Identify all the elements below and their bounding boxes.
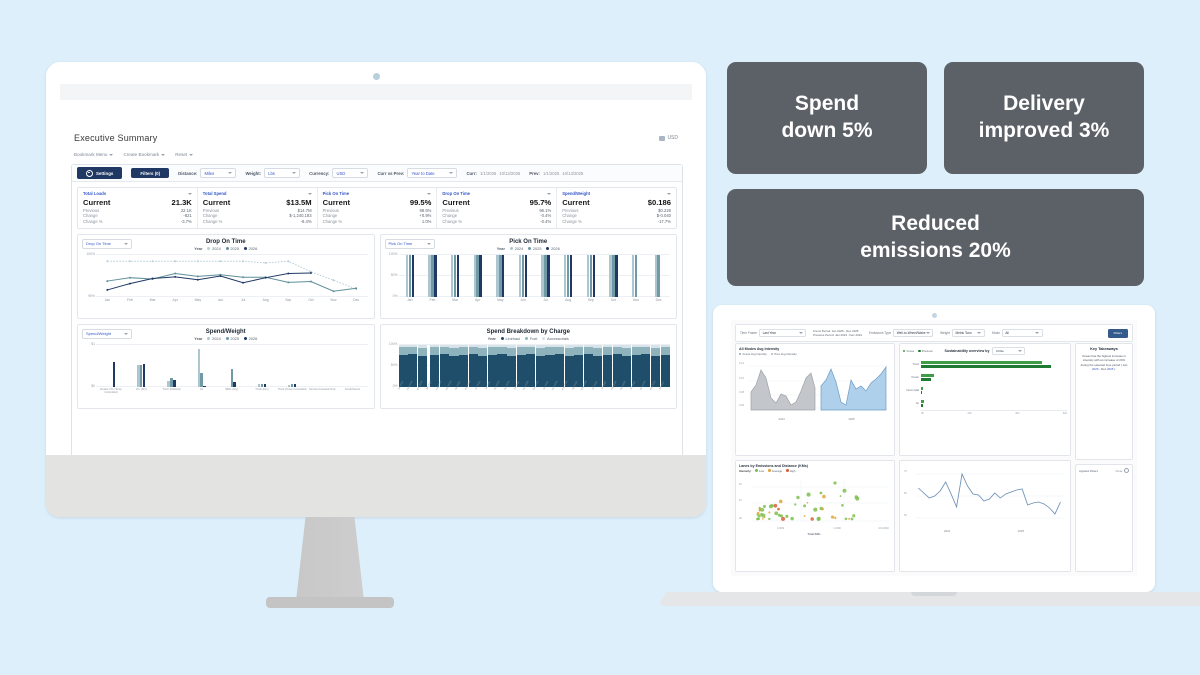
- clear-filters-button[interactable]: Clear: [1115, 468, 1129, 473]
- data-point: [106, 289, 108, 291]
- scatter-point: [790, 516, 793, 519]
- bar-segment-fuel: [517, 347, 526, 355]
- legend-text: 2026: [249, 246, 258, 251]
- legend-item[interactable]: Previous: [918, 349, 932, 353]
- chart-grid: Drop On Time Drop On Time Year2024202520…: [77, 234, 677, 409]
- middle-column: Sustainability overview by CO2e FocusPre…: [899, 343, 1071, 572]
- pick-on-time-select-value: Pick On Time: [389, 241, 413, 246]
- x-tick: Apr: [164, 298, 187, 302]
- bar-segment-fuel: [651, 348, 660, 356]
- legend-swatch: [207, 247, 210, 250]
- x-tick: 0.0KM: [777, 527, 784, 530]
- bar-group: [277, 343, 307, 387]
- x-tick: Sep: [277, 298, 300, 302]
- chevron-down-icon: [292, 172, 296, 174]
- kpi-change-value: $-1,240,193: [230, 213, 311, 218]
- legend-item[interactable]: Focus Avg Intensity: [739, 352, 767, 356]
- scatter-point: [821, 507, 824, 510]
- x-tick: May: [187, 298, 210, 302]
- data-point: [265, 276, 267, 278]
- bar-focus: [921, 361, 1042, 364]
- x-tick: IMDL (Dry): [217, 388, 247, 394]
- panel-title: Sustainability overview by: [945, 349, 990, 353]
- sustainability-row: Intermodal: [903, 384, 1067, 397]
- y-tick: 60: [904, 492, 907, 495]
- time-frame-filter[interactable]: Time Frame Last Year: [740, 329, 806, 337]
- x-tick: Feb: [421, 298, 444, 302]
- kpi-current-value: 21.3K: [110, 198, 191, 207]
- metric-select[interactable]: CO2e: [992, 347, 1025, 355]
- bookmark-bar: Bookmark Menu Create Bookmark Reset: [74, 152, 193, 157]
- bar-focus: [921, 374, 934, 377]
- kpi-change-pct-value: -0.4%: [470, 219, 551, 224]
- kpi-row-label: Previous: [323, 208, 350, 213]
- chart-plot: 100%95% JanFebMarAprMayJunJulAugSepOctNo…: [82, 253, 370, 305]
- avg-intensity-area-chart: [739, 358, 891, 420]
- legend-swatch: [244, 247, 247, 250]
- data-point: [242, 260, 244, 262]
- x-tick: Feb: [119, 298, 142, 302]
- kpi-row-label: Current: [323, 198, 350, 207]
- legend-item[interactable]: 2024: [207, 336, 220, 341]
- kpi-change-value: -0.4%: [470, 213, 551, 218]
- weight-select[interactable]: Lbs: [264, 168, 300, 178]
- chart-card-spend-weight: Spend/Weight Spend/Weight Year2024202520…: [77, 324, 375, 409]
- bar-series-group: [399, 253, 671, 297]
- y-tick: 0.10: [739, 377, 744, 380]
- data-point: [152, 277, 154, 279]
- legend-swatch: [501, 337, 504, 340]
- bar: [434, 255, 436, 297]
- scatter-point: [851, 517, 854, 520]
- curr-date-label: Curr:: [466, 171, 477, 176]
- kpi-change-pct-value: 1.0%: [350, 219, 431, 224]
- emissions-type-value: Well-to-Wheel/Wake: [897, 331, 926, 335]
- legend-item[interactable]: Linehaul: [501, 336, 520, 341]
- period-summary: Focus Period: Jan 2025 - Dec 2025 Previo…: [813, 329, 862, 338]
- takeaway-text-pre: Ocean has the highest increase in intens…: [1081, 354, 1128, 367]
- kpi-current-value: 95.7%: [470, 198, 551, 207]
- data-point: [197, 279, 199, 281]
- y-tick: 20: [739, 483, 742, 486]
- panel-applied-filters: Applied Filters Clear: [1075, 464, 1133, 572]
- bar-segment-fuel: [555, 347, 564, 354]
- currency-badge: USD: [659, 135, 678, 141]
- legend-item[interactable]: Fuel: [525, 336, 537, 341]
- spend-weight-select[interactable]: Spend/Weight: [82, 329, 132, 339]
- x-axis-title: Total KMs: [807, 532, 820, 536]
- chart-card-drop-on-time: Drop On Time Drop On Time Year2024202520…: [77, 234, 375, 319]
- bar-segment-fuel: [526, 347, 535, 354]
- bar-segment-fuel: [545, 347, 554, 355]
- data-point: [152, 260, 154, 262]
- legend-label: Year: [497, 246, 505, 251]
- callout-line-2: improved 3%: [979, 119, 1110, 142]
- scatter-point: [796, 495, 799, 498]
- weight-label: Weight: [940, 331, 950, 335]
- x-tick: 200: [968, 412, 972, 415]
- curr-vs-prev-select[interactable]: Year to Date: [407, 168, 457, 178]
- legend-item[interactable]: 2026: [244, 336, 257, 341]
- legend-item[interactable]: 2026: [546, 246, 559, 251]
- legend-text: 2025: [230, 336, 239, 341]
- y-tick: 50%: [391, 273, 398, 277]
- scatter-point: [806, 501, 808, 503]
- monitor-stand-base: [266, 597, 394, 608]
- bar-segment-fuel: [641, 347, 650, 354]
- legend-swatch: [244, 337, 247, 340]
- y-tick: 0K: [739, 517, 742, 520]
- y-tick: 70: [904, 470, 907, 473]
- bar-pair: [921, 400, 1067, 408]
- kpi-card: Drop On TimeCurrent95.7%Previous96.1%Cha…: [437, 188, 557, 228]
- currency-badge-label: USD: [667, 135, 678, 141]
- stacked-bar: [399, 343, 408, 387]
- panel-key-takeaways: Key Takeaways Ocean has the highest incr…: [1075, 343, 1133, 460]
- mode-filter[interactable]: Mode All: [992, 329, 1043, 337]
- chevron-down-icon: [161, 154, 165, 156]
- legend-text: 2025: [230, 246, 239, 251]
- legend-text: 2025: [533, 246, 542, 251]
- scatter-point: [842, 488, 846, 492]
- bar-previous: [921, 365, 1051, 368]
- scatter-point: [763, 504, 766, 507]
- data-point: [242, 276, 244, 278]
- panel-legend: FocusPrevious: [903, 349, 933, 353]
- kpi-values: Current95.7%Previous96.1%Change-0.4%Chan…: [442, 198, 551, 224]
- kpi-current-value: $0.186: [590, 198, 671, 207]
- kpi-row-label: Change %: [83, 219, 110, 224]
- bar-pair: [921, 374, 1067, 382]
- emissions-type-select[interactable]: Well-to-Wheel/Wake: [893, 329, 933, 337]
- lanes-scatter-chart: [739, 475, 891, 535]
- legend-swatch: [918, 350, 920, 352]
- data-point: [129, 282, 131, 284]
- scatter-point: [848, 517, 850, 519]
- period-label: 2025: [1018, 529, 1024, 533]
- chart-title: Spend Breakdown by Charge: [385, 329, 673, 335]
- bar: [294, 384, 296, 387]
- kpi-row-label: Change %: [203, 219, 230, 224]
- legend-text: Previous: [922, 349, 933, 353]
- kpi-header[interactable]: Pick On Time: [323, 191, 432, 196]
- kpi-row-label: Change %: [442, 219, 469, 224]
- kpi-header[interactable]: Spend/Weight: [562, 191, 671, 196]
- callout-card-delivery: Delivery improved 3%: [944, 62, 1144, 174]
- data-point: [219, 260, 221, 262]
- x-tick: 400: [1015, 412, 1019, 415]
- bar-group: [534, 253, 557, 297]
- y-tick: 0.12: [739, 362, 744, 365]
- y-tick: $0: [91, 384, 95, 388]
- scatter-point: [774, 503, 778, 507]
- callout-card-emissions: Reduced emissions 20%: [727, 189, 1144, 286]
- kpi-title: Pick On Time: [323, 191, 349, 196]
- scatter-point: [804, 514, 806, 516]
- current-date-range[interactable]: Curr: 1/1/2026 10/13/2026: [466, 171, 520, 176]
- kpi-change-value: $-0.040: [590, 213, 671, 218]
- kpi-card: Pick On TimeCurrent99.5%Previous98.5%Cha…: [318, 188, 438, 228]
- sustainability-bar-chart: TruckOceanIntermodalAir0K200400600: [903, 358, 1067, 420]
- prev-date-label: Prev:: [529, 171, 540, 176]
- reset-button[interactable]: Reset: [175, 152, 193, 157]
- emissions-type-label: Emissions Type: [869, 331, 891, 335]
- kpi-row-label: Change %: [323, 219, 350, 224]
- scatter-point: [834, 516, 836, 518]
- kpi-previous-value: $14.7M: [230, 208, 311, 213]
- x-tick: Truck (Flatbed): [156, 388, 186, 394]
- kpi-previous-value: 22.1K: [110, 208, 191, 213]
- legend-text: 2024: [515, 246, 524, 251]
- kpi-header[interactable]: Total Spend: [203, 191, 312, 196]
- monitor-stand-neck: [296, 517, 364, 601]
- x-tick: Jan: [399, 298, 422, 302]
- category-label: Air: [903, 402, 919, 405]
- kpi-row: Total LoadsCurrent21.3KPrevious22.1KChan…: [77, 187, 677, 229]
- bar-segment-fuel: [418, 348, 427, 356]
- y-axis: 100%50%0%: [385, 343, 399, 387]
- legend-text: Focus: [907, 349, 915, 353]
- legend-text: 2026: [551, 246, 560, 251]
- y-tick: 0.08: [739, 391, 744, 394]
- bar: [615, 255, 617, 297]
- callout-card-spend: Spend down 5%: [727, 62, 927, 174]
- data-point: [265, 262, 267, 264]
- kpi-change-value: -821: [110, 213, 191, 218]
- legend-item[interactable]: Low: [755, 469, 764, 473]
- metric-value: CO2e: [996, 349, 1004, 353]
- kpi-header[interactable]: Drop On Time: [442, 191, 551, 196]
- panel-legend: Intensity: LowAverageHigh: [739, 469, 891, 473]
- curr-vs-prev-label: Curr vs Prev:: [377, 171, 404, 176]
- spend-weight-select-value: Spend/Weight: [86, 331, 111, 336]
- kpi-row-label: Change: [203, 213, 230, 218]
- period-label: 2024: [944, 529, 950, 533]
- kpi-row-label: Previous: [83, 208, 110, 213]
- callout-line-2: down 5%: [781, 119, 872, 142]
- y-tick: 50%: [391, 363, 398, 367]
- scatter-point: [768, 517, 770, 519]
- drop-on-time-select-value: Drop On Time: [86, 241, 111, 246]
- panel-avg-intensity: All Modes Avg Intensity Focus Avg Intens…: [735, 343, 895, 456]
- panel-sustainability-overview: Sustainability overview by CO2e FocusPre…: [899, 343, 1071, 456]
- executive-summary-dashboard: Executive Summary USD Bookmark Menu Crea…: [60, 84, 692, 474]
- scatter-point: [779, 499, 783, 503]
- bar-group: [217, 343, 247, 387]
- y-tick: 100%: [86, 252, 95, 256]
- chart-plot: $1$0 Reefer LTL (Temp Controlled)LTL (Dr…: [82, 343, 370, 395]
- legend-item[interactable]: 2025: [528, 246, 541, 251]
- legend-item[interactable]: 2025: [226, 246, 239, 251]
- legend-text: Fuel: [530, 336, 538, 341]
- category-label: Truck: [903, 363, 919, 366]
- bar-segment-fuel: [584, 347, 593, 354]
- bar-segment-fuel: [536, 348, 545, 356]
- y-tick: 50: [904, 514, 907, 517]
- kpi-change-pct-value: -3.7%: [110, 219, 191, 224]
- x-tick: Oct: [300, 298, 323, 302]
- kpi-header[interactable]: Total Loads: [83, 191, 192, 196]
- distance-filter[interactable]: Distance: Miles: [178, 168, 236, 178]
- mode-select[interactable]: All: [1002, 329, 1043, 337]
- prev-date-from[interactable]: 1/1/2025: [543, 171, 559, 176]
- legend-swatch: [542, 337, 545, 340]
- legend-label: Year: [194, 336, 202, 341]
- filters-button[interactable]: Filters: [1108, 329, 1128, 338]
- emissions-type-filter[interactable]: Emissions Type Well-to-Wheel/Wake: [869, 329, 933, 337]
- distance-select[interactable]: Miles: [200, 168, 236, 178]
- chevron-down-icon: [188, 193, 192, 195]
- scatter-point: [855, 495, 859, 499]
- weight-select[interactable]: Metric Tons: [952, 329, 985, 337]
- bar-group: [557, 253, 580, 297]
- drop-on-time-select[interactable]: Drop On Time: [82, 239, 132, 249]
- line-series: [107, 273, 356, 291]
- bar-focus: [921, 400, 924, 403]
- bar-previous: [921, 404, 923, 407]
- data-point: [287, 260, 289, 262]
- create-bookmark-button[interactable]: Create Bookmark: [123, 152, 165, 157]
- scatter-point: [774, 511, 778, 515]
- left-column: All Modes Avg Intensity Focus Avg Intens…: [735, 343, 895, 572]
- right-column: Key Takeaways Ocean has the highest incr…: [1075, 343, 1133, 572]
- bar: [525, 255, 527, 297]
- chevron-down-icon: [977, 332, 981, 334]
- x-tick: Nov: [625, 298, 648, 302]
- kpi-change-pct-value: -17.7%: [590, 219, 671, 224]
- bar-group: [156, 343, 186, 387]
- scatter-point: [807, 492, 811, 496]
- legend-item[interactable]: Focus: [903, 349, 914, 353]
- previous-period-text: Previous Period: Jan 2024 - Dec 2024: [813, 333, 862, 337]
- weight-filter[interactable]: Weight: Lbs: [245, 168, 300, 178]
- kpi-values: Current99.5%Previous98.5%Change+0.9%Chan…: [323, 198, 432, 224]
- line-series-group: [96, 253, 368, 297]
- kpi-card: Total SpendCurrent$13.5MPrevious$14.7MCh…: [198, 188, 318, 228]
- scatter-point: [803, 504, 806, 507]
- kpi-row-label: Current: [442, 198, 469, 207]
- legend-swatch: [207, 337, 210, 340]
- settings-label: Settings: [96, 171, 113, 176]
- mode-label: Mode: [992, 331, 1000, 335]
- monitor-chin: [46, 455, 706, 517]
- scatter-point: [758, 514, 761, 517]
- settings-button[interactable]: Settings: [77, 167, 122, 179]
- chevron-down-icon: [124, 243, 128, 245]
- gridline: [96, 254, 368, 255]
- bar-group: [647, 253, 670, 297]
- scatter-point: [833, 481, 836, 484]
- legend-text: Average: [772, 469, 782, 473]
- scatter-point: [758, 518, 760, 520]
- time-frame-select[interactable]: Last Year: [759, 329, 806, 337]
- chevron-down-icon: [799, 332, 803, 334]
- bar-segment-fuel: [488, 347, 497, 355]
- kpi-card: Total LoadsCurrent21.3KPrevious22.1KChan…: [78, 188, 198, 228]
- bar-group: [337, 343, 367, 387]
- weight-value: Lbs: [268, 171, 275, 176]
- kpi-row-label: Previous: [203, 208, 230, 213]
- scatter-point: [840, 495, 842, 497]
- applied-filters-title: Applied Filters: [1079, 469, 1098, 473]
- kpi-row-label: Current: [203, 198, 230, 207]
- chevron-down-icon: [360, 172, 364, 174]
- scatter-point: [780, 514, 783, 517]
- scatter-point: [777, 507, 780, 510]
- x-tick: 100,000K: [878, 527, 889, 530]
- legend-item[interactable]: Average: [768, 469, 782, 473]
- kpi-row-label: Change: [323, 213, 350, 218]
- legend-item[interactable]: Accessorials: [542, 336, 568, 341]
- x-tick: Mar: [141, 298, 164, 302]
- currency-filter[interactable]: Currency: USD: [309, 168, 368, 178]
- previous-date-range[interactable]: Prev: 1/1/2025 10/13/2025: [529, 171, 583, 176]
- bar-segment-fuel: [593, 348, 602, 356]
- bar-previous: [921, 391, 922, 394]
- legend-item[interactable]: High: [786, 469, 795, 473]
- dashboard-panel: Settings Filters (0) Distance: Miles: [71, 164, 683, 461]
- plot-area: [399, 253, 671, 297]
- bar-segment-fuel: [574, 347, 583, 355]
- bar: [412, 255, 414, 297]
- pick-on-time-select[interactable]: Pick On Time: [385, 239, 435, 249]
- mode-value: All: [1005, 331, 1009, 335]
- bar-group: [399, 253, 422, 297]
- bar-segment-fuel: [622, 348, 631, 356]
- bar: [203, 386, 205, 387]
- intensity-trend-line-chart: [903, 464, 1067, 532]
- scatter-point: [810, 517, 814, 521]
- x-tick: 1,000K: [833, 527, 841, 530]
- filters-button[interactable]: Filters (0): [131, 168, 169, 178]
- x-tick: LTL (Dry): [126, 388, 156, 394]
- scatter-point: [759, 506, 761, 508]
- bar-group: [625, 253, 648, 297]
- kpi-row-label: Change: [562, 213, 589, 218]
- panel-title: Lanes by Emissions and Distance (KMs): [739, 464, 891, 468]
- scatter-point: [785, 514, 788, 517]
- scatter-point: [764, 516, 766, 518]
- curr-date-from[interactable]: 1/1/2026: [480, 171, 496, 176]
- data-point: [333, 279, 335, 281]
- chevron-down-icon: [1018, 350, 1022, 352]
- bar-group: [96, 343, 126, 387]
- curr-vs-prev-filter[interactable]: Curr vs Prev: Year to Date: [377, 168, 457, 178]
- legend-item[interactable]: Prev Avg Intensity: [771, 352, 797, 356]
- legend-item[interactable]: 2026: [244, 246, 257, 251]
- kpi-change-value: +0.9%: [350, 213, 431, 218]
- legend-item[interactable]: 2024: [207, 246, 220, 251]
- x-tick: Jun: [209, 298, 232, 302]
- currency-select[interactable]: USD: [332, 168, 368, 178]
- prev-date-to[interactable]: 10/13/2025: [562, 171, 583, 176]
- period-label: 2024: [779, 417, 785, 421]
- bar-segment-fuel: [408, 347, 417, 354]
- legend-item[interactable]: 2024: [510, 246, 523, 251]
- data-point: [287, 281, 289, 283]
- legend-swatch: [755, 469, 757, 471]
- sustainability-body: All Modes Avg Intensity Focus Avg Intens…: [735, 343, 1133, 572]
- bookmark-menu-button[interactable]: Bookmark Menu: [74, 152, 113, 157]
- weight-filter[interactable]: Weight Metric Tons: [940, 329, 985, 337]
- curr-date-to[interactable]: 10/13/2026: [499, 171, 520, 176]
- legend-item[interactable]: 2025: [226, 336, 239, 341]
- bar: [233, 382, 235, 387]
- y-tick: 0.06: [739, 404, 744, 407]
- y-tick: 0%: [393, 294, 398, 298]
- app-topbar: [60, 84, 692, 100]
- chevron-down-icon: [1035, 332, 1039, 334]
